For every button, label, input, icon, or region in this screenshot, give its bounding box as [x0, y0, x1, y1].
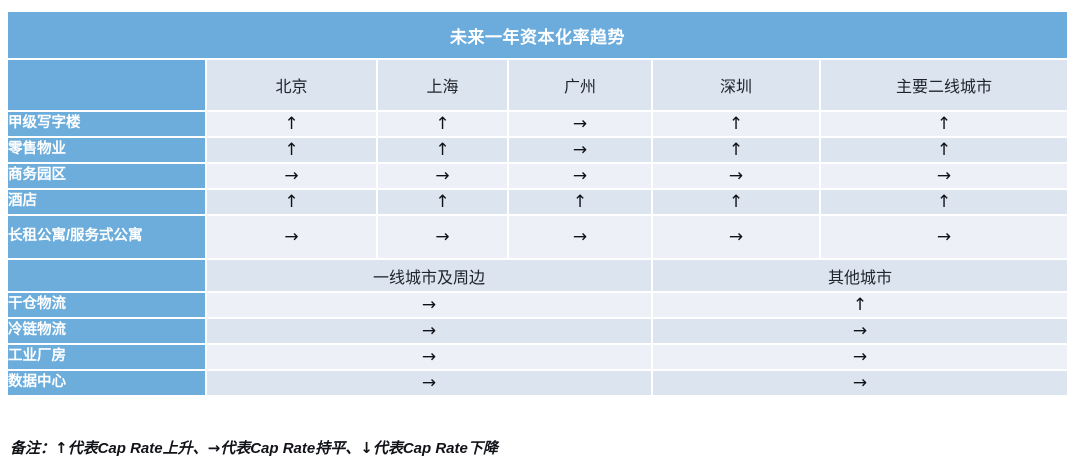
- table-row: 商务园区 → → → → →: [7, 163, 1068, 189]
- trend-cell: ↑: [652, 111, 820, 137]
- trend-cell: →: [206, 370, 652, 396]
- trend-cell: →: [206, 344, 652, 370]
- table-row: 工业厂房 → →: [7, 344, 1068, 370]
- column-header-tier2: 主要二线城市: [820, 59, 1068, 111]
- row-label-grade-a-office: 甲级写字楼: [7, 111, 206, 137]
- row-label-industrial-plant: 工业厂房: [7, 344, 206, 370]
- row-label-retail: 零售物业: [7, 137, 206, 163]
- trend-cell: →: [652, 215, 820, 259]
- trend-cell: →: [377, 215, 508, 259]
- table-row: 冷链物流 → →: [7, 318, 1068, 344]
- row-label-rental-apartment: 长租公寓/服务式公寓: [7, 215, 206, 259]
- trend-cell: →: [206, 292, 652, 318]
- table-row: 酒店 ↑ ↑ ↑ ↑ ↑: [7, 189, 1068, 215]
- trend-cell: ↑: [820, 111, 1068, 137]
- column-header-beijing: 北京: [206, 59, 377, 111]
- column-header-shenzhen: 深圳: [652, 59, 820, 111]
- table-title: 未来一年资本化率趋势: [7, 11, 1068, 59]
- footnote-up-text: 代表Cap Rate上升、: [68, 440, 208, 457]
- trend-cell: →: [508, 163, 652, 189]
- trend-cell: →: [652, 163, 820, 189]
- trend-cell: →: [652, 344, 1068, 370]
- slide-canvas: 未来一年资本化率趋势 北京 上海 广州 深圳 主要二线城市 甲级写字楼 ↑ ↑ …: [0, 0, 1080, 472]
- trend-cell: →: [377, 163, 508, 189]
- arrow-right-icon: →: [208, 439, 221, 457]
- cap-rate-table-container: 未来一年资本化率趋势 北京 上海 广州 深圳 主要二线城市 甲级写字楼 ↑ ↑ …: [7, 11, 1068, 396]
- row-label-dry-warehouse: 干仓物流: [7, 292, 206, 318]
- trend-cell: →: [206, 163, 377, 189]
- trend-cell: ↑: [652, 189, 820, 215]
- trend-cell: ↑: [206, 189, 377, 215]
- table-row: 数据中心 → →: [7, 370, 1068, 396]
- column-header-shanghai: 上海: [377, 59, 508, 111]
- section-corner-cell: [7, 259, 206, 292]
- trend-cell: →: [508, 111, 652, 137]
- trend-cell: →: [508, 215, 652, 259]
- section-header-tier1-cities: 一线城市及周边: [206, 259, 652, 292]
- row-label-data-center: 数据中心: [7, 370, 206, 396]
- trend-cell: ↑: [377, 189, 508, 215]
- footnote-down-text: 代表Cap Rate下降: [373, 440, 498, 457]
- trend-cell: ↑: [652, 292, 1068, 318]
- row-label-hotel: 酒店: [7, 189, 206, 215]
- section-header-other-cities: 其他城市: [652, 259, 1068, 292]
- row-label-business-park: 商务园区: [7, 163, 206, 189]
- trend-cell: →: [652, 318, 1068, 344]
- arrow-down-icon: ↓: [360, 439, 373, 457]
- trend-cell: ↑: [652, 137, 820, 163]
- section-header-row: 一线城市及周边 其他城市: [7, 259, 1068, 292]
- trend-cell: →: [206, 215, 377, 259]
- trend-cell: ↑: [820, 189, 1068, 215]
- trend-cell: ↑: [508, 189, 652, 215]
- trend-cell: →: [508, 137, 652, 163]
- arrow-up-icon: ↑: [55, 439, 68, 457]
- trend-cell: →: [652, 370, 1068, 396]
- table-row: 干仓物流 → ↑: [7, 292, 1068, 318]
- column-header-row: 北京 上海 广州 深圳 主要二线城市: [7, 59, 1068, 111]
- trend-cell: →: [206, 318, 652, 344]
- column-header-guangzhou: 广州: [508, 59, 652, 111]
- table-row: 长租公寓/服务式公寓 → → → → →: [7, 215, 1068, 259]
- table-corner-cell: [7, 59, 206, 111]
- trend-cell: ↑: [206, 137, 377, 163]
- trend-cell: ↑: [377, 137, 508, 163]
- cap-rate-table: 未来一年资本化率趋势 北京 上海 广州 深圳 主要二线城市 甲级写字楼 ↑ ↑ …: [7, 11, 1068, 396]
- trend-cell: ↑: [206, 111, 377, 137]
- table-row: 甲级写字楼 ↑ ↑ → ↑ ↑: [7, 111, 1068, 137]
- table-row: 零售物业 ↑ ↑ → ↑ ↑: [7, 137, 1068, 163]
- footnote-flat-text: 代表Cap Rate持平、: [220, 440, 360, 457]
- trend-cell: ↑: [377, 111, 508, 137]
- trend-cell: ↑: [820, 137, 1068, 163]
- trend-cell: →: [820, 215, 1068, 259]
- footnote: 备注：↑代表Cap Rate上升、→代表Cap Rate持平、↓代表Cap Ra…: [10, 437, 498, 458]
- table-title-row: 未来一年资本化率趋势: [7, 11, 1068, 59]
- trend-cell: →: [820, 163, 1068, 189]
- footnote-prefix: 备注：: [10, 440, 55, 457]
- row-label-cold-chain: 冷链物流: [7, 318, 206, 344]
